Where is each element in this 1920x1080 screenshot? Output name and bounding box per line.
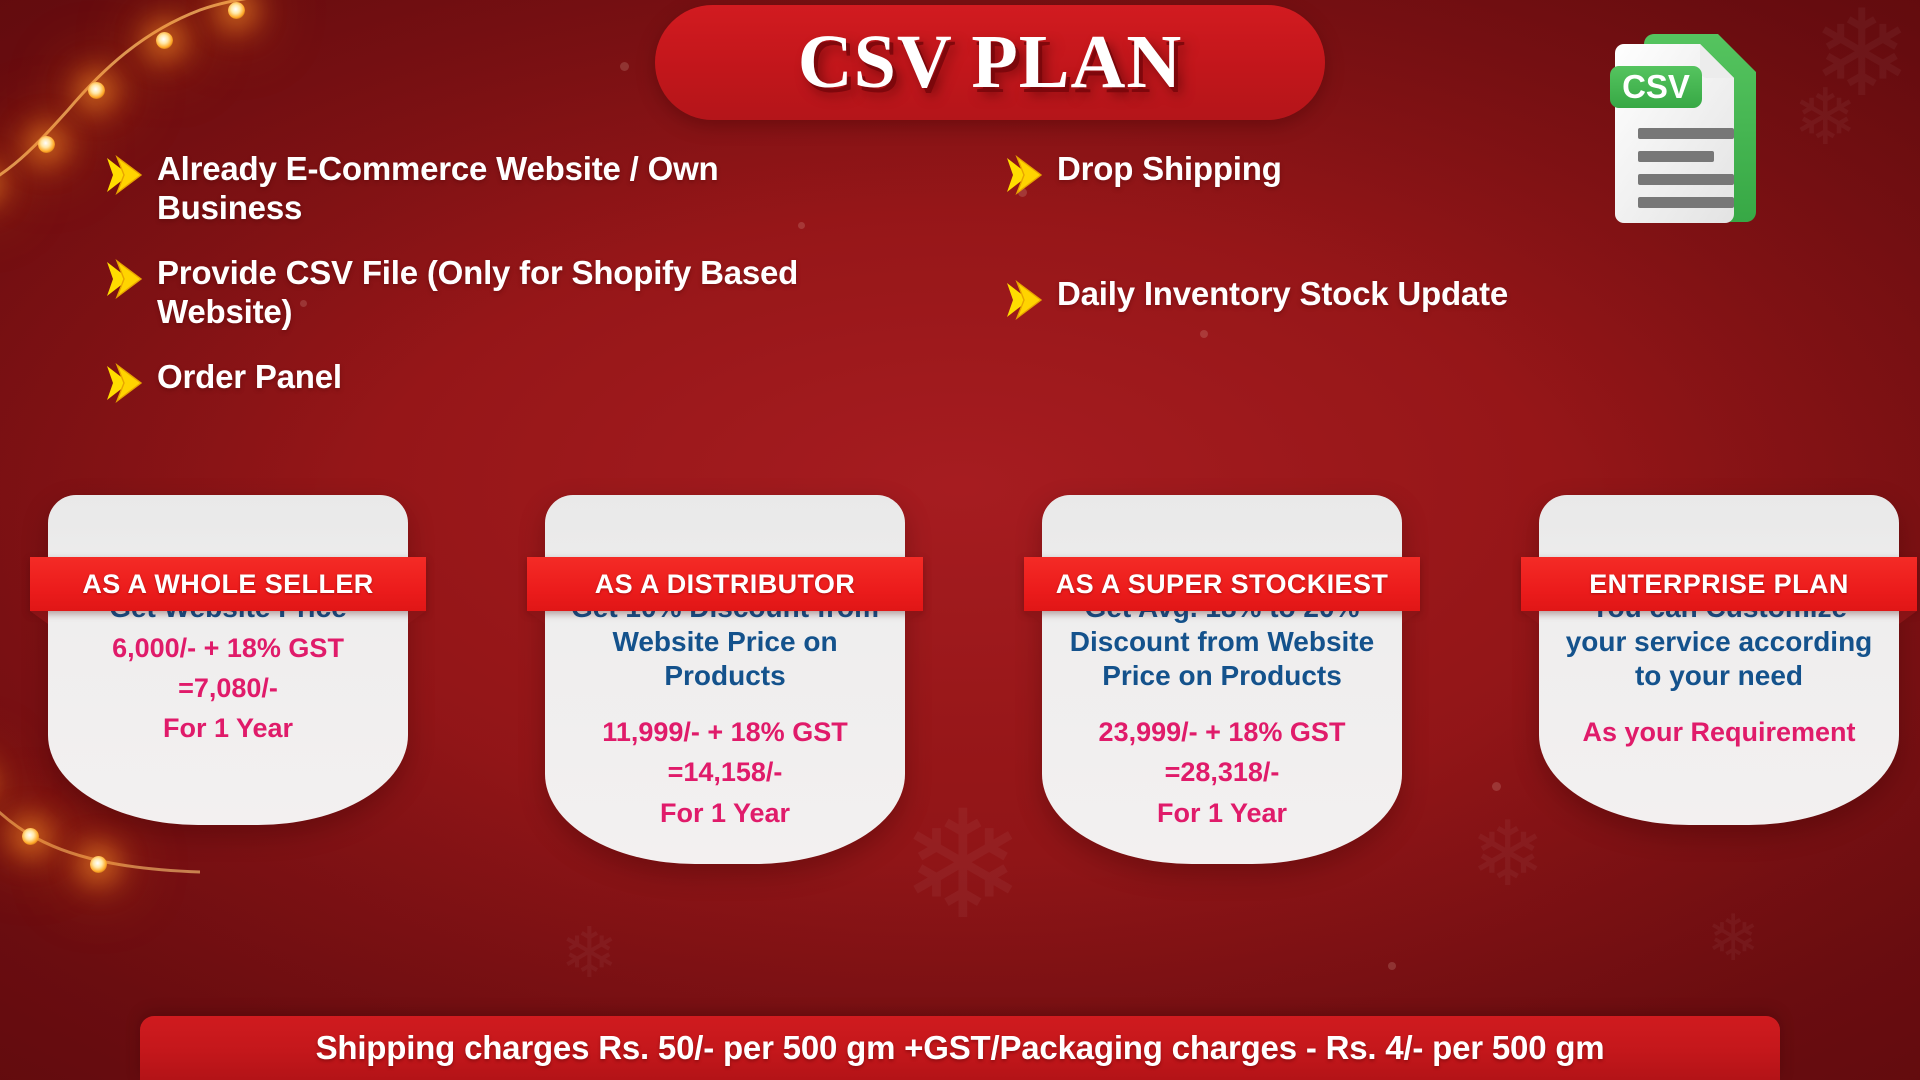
card-price-line: As your Requirement (1539, 715, 1899, 749)
chevron-right-icon (1005, 280, 1047, 320)
feature-list: Already E-Commerce Website / Own Busines… (105, 150, 1745, 430)
card-price-line: =7,080/- (48, 671, 408, 705)
card-price-line: 23,999/- + 18% GST (1042, 715, 1402, 749)
feature-label: Already E-Commerce Website / Own Busines… (157, 150, 845, 228)
chevron-right-icon (105, 155, 147, 195)
card-ribbon-label: AS A DISTRIBUTOR (595, 569, 855, 600)
card-body: AS A WHOLE SELLER Get Website Price 6,00… (48, 495, 408, 825)
card-ribbon-label: AS A WHOLE SELLER (82, 569, 373, 600)
feature-item: Daily Inventory Stock Update (1005, 275, 1725, 320)
feature-item: Order Panel (105, 358, 845, 403)
bokeh-dot (620, 62, 629, 71)
card-body: ENTERPRISE PLAN You can Customize your s… (1539, 495, 1899, 825)
card-body: AS A SUPER STOCKIEST Get Avg. 18% to 20%… (1042, 495, 1402, 864)
card-price-line: For 1 Year (48, 711, 408, 745)
pricing-card-whole-seller[interactable]: AS A WHOLE SELLER Get Website Price 6,00… (48, 495, 408, 825)
feature-label: Provide CSV File (Only for Shopify Based… (157, 254, 845, 332)
chevron-right-icon (105, 363, 147, 403)
footer-text: Shipping charges Rs. 50/- per 500 gm +GS… (316, 1029, 1605, 1067)
feature-label: Daily Inventory Stock Update (1057, 275, 1508, 314)
feature-label: Order Panel (157, 358, 342, 397)
card-price-line: For 1 Year (1042, 796, 1402, 830)
csv-badge-label: CSV (1622, 68, 1690, 105)
card-ribbon: AS A SUPER STOCKIEST (1024, 557, 1420, 611)
card-price-line: 6,000/- + 18% GST (48, 631, 408, 665)
chevron-right-icon (105, 259, 147, 299)
footer-banner: Shipping charges Rs. 50/- per 500 gm +GS… (140, 1016, 1780, 1080)
chevron-right-icon (1005, 155, 1047, 195)
card-price-line: 11,999/- + 18% GST (545, 715, 905, 749)
card-ribbon: ENTERPRISE PLAN (1521, 557, 1917, 611)
card-ribbon-label: AS A SUPER STOCKIEST (1056, 569, 1389, 600)
card-ribbon-label: ENTERPRISE PLAN (1589, 569, 1849, 600)
card-body: AS A DISTRIBUTOR Get 10% Discount from W… (545, 495, 905, 864)
title-badge: CSV PLAN (655, 5, 1325, 120)
card-price-line: =28,318/- (1042, 755, 1402, 789)
bokeh-dot (1388, 962, 1396, 970)
page-title: CSV PLAN (798, 19, 1183, 106)
feature-column-right: Drop Shipping Daily Inventory Stock Upda… (1005, 150, 1725, 346)
snowflake-icon: ❄ (1793, 78, 1858, 156)
feature-label: Drop Shipping (1057, 150, 1282, 189)
pricing-card-enterprise[interactable]: ENTERPRISE PLAN You can Customize your s… (1539, 495, 1899, 825)
feature-column-left: Already E-Commerce Website / Own Busines… (105, 150, 845, 429)
feature-item: Provide CSV File (Only for Shopify Based… (105, 254, 845, 332)
card-price-line: For 1 Year (545, 796, 905, 830)
pricing-cards: AS A WHOLE SELLER Get Website Price 6,00… (0, 495, 1920, 955)
card-price-line: =14,158/- (545, 755, 905, 789)
pricing-card-super-stockiest[interactable]: AS A SUPER STOCKIEST Get Avg. 18% to 20%… (1042, 495, 1402, 864)
feature-item: Drop Shipping (1005, 150, 1725, 195)
card-ribbon: AS A DISTRIBUTOR (527, 557, 923, 611)
feature-item: Already E-Commerce Website / Own Busines… (105, 150, 845, 228)
card-ribbon: AS A WHOLE SELLER (30, 557, 426, 611)
pricing-card-distributor[interactable]: AS A DISTRIBUTOR Get 10% Discount from W… (545, 495, 905, 864)
